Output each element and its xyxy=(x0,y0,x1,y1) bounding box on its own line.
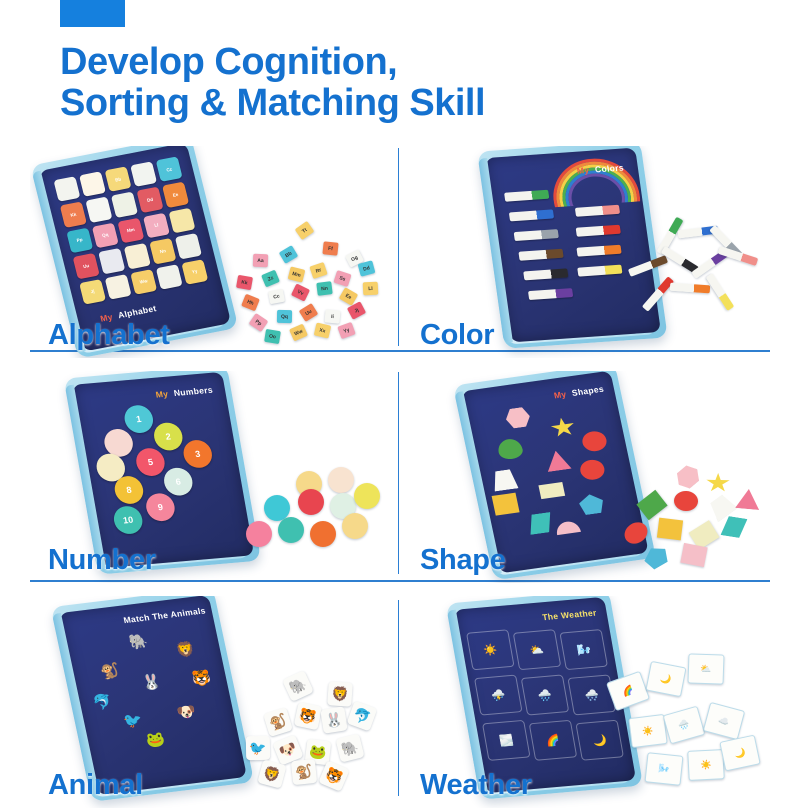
book-title-main: Colors xyxy=(594,163,624,175)
alphabet-loose-tile: Ss xyxy=(333,270,351,287)
alphabet-loose-tile: Uu xyxy=(299,303,319,322)
alphabet-loose-tile: Rr xyxy=(309,262,327,279)
alphabet-tile: Pp xyxy=(66,227,93,253)
crayon-brown xyxy=(518,249,563,261)
alphabet-tile: Ww xyxy=(130,269,157,295)
animal-frog-icon: 🐸 xyxy=(141,727,170,753)
weather-cloudy-slot: ⛅ xyxy=(513,629,562,670)
alphabet-loose-tile: Cc xyxy=(268,289,285,305)
loose-animal-piece: 🐯 xyxy=(318,760,349,791)
alphabet-loose-tile: Ww xyxy=(289,324,308,342)
animal-rabbit-icon: 🐰 xyxy=(137,669,166,695)
alphabet-loose-tile: Dd xyxy=(358,260,376,276)
crayon-yellow xyxy=(577,265,622,277)
number-disc xyxy=(310,521,336,547)
weather-loose-card: ☁️ xyxy=(703,702,746,740)
alphabet-loose-tile: Qq xyxy=(277,310,292,323)
alphabet-tile xyxy=(98,248,125,274)
number-book-title: My Numbers xyxy=(155,385,214,400)
loose-shape xyxy=(706,473,730,493)
crayon-gray xyxy=(514,229,559,241)
weather-thunder-slot: ⛈️ xyxy=(474,675,523,716)
shape-oval xyxy=(580,430,608,453)
alphabet-loose-tile: Hh xyxy=(241,294,260,312)
loose-crayon xyxy=(642,276,674,311)
loose-shape xyxy=(620,518,651,548)
alphabet-tile xyxy=(53,176,80,202)
loose-shape xyxy=(657,518,683,541)
loose-shape xyxy=(673,490,698,511)
number-circle: 3 xyxy=(181,439,214,469)
loose-animal-piece: 🦁 xyxy=(327,681,353,707)
alphabet-loose-tile: Ff xyxy=(322,241,338,255)
book-title-prefix: My xyxy=(155,389,169,400)
product-cell-number[interactable]: My Numbers 123586910 Number xyxy=(30,371,398,583)
alphabet-tile: Cc xyxy=(156,156,183,182)
book-title-prefix: My xyxy=(553,389,567,401)
number-circle: 10 xyxy=(112,505,145,535)
weather-loose-card: 🌧️ xyxy=(663,706,706,745)
alphabet-tile: Ll xyxy=(143,213,170,239)
alphabet-tile xyxy=(111,192,138,218)
alphabet-tile xyxy=(175,233,202,259)
loose-shape xyxy=(641,542,672,571)
alphabet-tile-label: Jj xyxy=(79,279,106,305)
infographic-page: Develop Cognition, Sorting & Matching Sk… xyxy=(0,0,800,800)
alphabet-tile: Ee xyxy=(162,182,189,208)
alphabet-loose-tile: Oo xyxy=(264,329,281,344)
shape-parallelogram xyxy=(526,512,554,535)
shape-loose-pieces xyxy=(624,467,764,575)
accent-bar xyxy=(60,0,125,27)
shape-hexagon xyxy=(504,406,532,429)
alphabet-tile xyxy=(130,161,157,187)
loose-animal-piece: 🐘 xyxy=(335,733,364,762)
alphabet-tile-label: Kk xyxy=(60,202,87,228)
number-circle: 5 xyxy=(134,447,167,477)
shape-star xyxy=(549,416,577,439)
crayon-green xyxy=(504,190,549,202)
cell-label-weather: Weather xyxy=(420,769,532,802)
alphabet-tile: Yy xyxy=(181,259,208,285)
weather-loose-card: 🌬️ xyxy=(645,752,684,786)
number-disc xyxy=(278,517,304,543)
loose-animal-piece: 🐰 xyxy=(320,706,347,733)
weather-book: The Weather ☀️⛅🌬️⛈️🌧️🌨️🌫️🌈🌙 xyxy=(454,597,636,793)
animal-monkey-icon: 🐒 xyxy=(96,658,125,684)
alphabet-loose-tile: Tt xyxy=(295,221,315,240)
weather-loose-card: ☀️ xyxy=(628,714,667,748)
loose-crayon xyxy=(670,283,710,294)
alphabet-loose-pieces: TtAaBbFfGgKkZzMmRrSsDdHhCcVvNnEeLlPpQqUu… xyxy=(235,224,385,344)
shape-heart xyxy=(496,438,524,461)
alphabet-tile xyxy=(85,197,112,223)
crayon-red xyxy=(576,225,621,237)
alphabet-tile-label: Pp xyxy=(66,227,93,253)
loose-shape xyxy=(672,462,703,493)
loose-animal-piece: 🦁 xyxy=(257,759,286,788)
alphabet-tile-label: Qq xyxy=(92,223,119,249)
number-circle: 1 xyxy=(122,404,155,434)
alphabet-tile-label: Cc xyxy=(156,156,183,182)
alphabet-tile: Dd xyxy=(137,187,164,213)
alphabet-tile xyxy=(105,274,132,300)
alphabet-tile-label: Mm xyxy=(117,218,144,244)
number-disc xyxy=(328,467,354,493)
cell-label-shape: Shape xyxy=(420,544,506,577)
alphabet-loose-tile: Bb xyxy=(279,245,299,264)
alphabet-tile xyxy=(124,243,151,269)
product-cell-shape[interactable]: My Shapes Shape xyxy=(402,371,770,583)
alphabet-tile xyxy=(156,264,183,290)
alphabet-loose-tile: Xx xyxy=(314,322,332,338)
weather-slots: ☀️⛅🌬️⛈️🌧️🌨️🌫️🌈🌙 xyxy=(466,621,626,780)
product-cell-color[interactable]: My Colors Color xyxy=(402,146,770,358)
number-loose-pieces xyxy=(242,467,387,572)
number-disc xyxy=(246,521,272,547)
weather-loose-card: ☀️ xyxy=(687,749,725,781)
weather-loose-card: 🌈 xyxy=(606,671,650,712)
loose-animal-piece: 🐒 xyxy=(263,707,293,737)
animal-dolphin-icon: 🐬 xyxy=(88,689,117,715)
number-disc xyxy=(354,483,380,509)
alphabet-loose-tile: Ll xyxy=(363,282,379,296)
number-circle: 2 xyxy=(152,422,185,452)
animal-slots: 🐘🦁🐒🐯🐰🐬🐦🐶🐸 xyxy=(72,621,236,782)
crayon-pink xyxy=(575,205,620,217)
animal-loose-pieces: 🐘🦁🐒🐯🐰🐬🐦🐶🐸🐘🦁🐒🐯 xyxy=(242,674,390,794)
page-title: Develop Cognition, Sorting & Matching Sk… xyxy=(60,42,760,123)
alphabet-tile-label: Ll xyxy=(143,213,170,239)
weather-loose-cards: 🌈🌙⛅☀️🌧️☁️🌬️☀️🌙 xyxy=(610,654,762,794)
animal-book: Match The Animals 🐘🦁🐒🐯🐰🐬🐦🐶🐸 xyxy=(59,596,247,795)
weather-snowy-slot: 🌨️ xyxy=(567,674,616,715)
alphabet-loose-tile: Ii xyxy=(324,309,340,323)
weather-rainbow-slot: 🌈 xyxy=(529,720,578,761)
alphabet-loose-tile: Aa xyxy=(253,254,268,268)
animal-tiger-icon: 🐯 xyxy=(187,665,216,691)
loose-crayon xyxy=(706,273,734,311)
shape-pentagon xyxy=(577,493,605,516)
cell-label-color: Color xyxy=(420,319,494,352)
alphabet-tile-label: Bb xyxy=(105,166,132,192)
loose-animal-piece: 🐬 xyxy=(347,701,378,732)
alphabet-loose-tile: Nn xyxy=(316,281,332,296)
alphabet-loose-tile: Mm xyxy=(288,266,306,282)
alphabet-tile-label: Ww xyxy=(130,269,157,295)
product-grid: BbCcKkDdEePpQqMmLlUuNnJjWwYy My Alphabet… xyxy=(30,146,770,786)
loose-animal-piece: 🐒 xyxy=(291,759,317,785)
number-circle: 6 xyxy=(162,467,195,497)
alphabet-tile-label: Nn xyxy=(149,238,176,264)
loose-shape xyxy=(721,515,748,539)
alphabet-loose-tile: Zz xyxy=(261,270,280,288)
loose-animal-piece: 🐯 xyxy=(294,702,322,730)
crayon-purple xyxy=(528,288,573,300)
alphabet-tile-label: Uu xyxy=(73,253,100,279)
book-title-main: Alphabet xyxy=(117,303,158,320)
loose-crayon xyxy=(628,255,668,277)
animal-elephant-icon: 🐘 xyxy=(124,628,153,654)
product-cell-animal[interactable]: Match The Animals 🐘🦁🐒🐯🐰🐬🐦🐶🐸 🐘🦁🐒🐯🐰🐬🐦🐶🐸🐘🦁🐒… xyxy=(30,596,398,808)
weather-loose-card: 🌙 xyxy=(719,735,760,772)
loose-shape xyxy=(636,490,667,521)
number-circle: 8 xyxy=(113,475,146,505)
loose-shape xyxy=(680,543,707,567)
animal-lion-icon: 🦁 xyxy=(171,637,200,663)
shape-triangle xyxy=(544,449,572,472)
alphabet-tile xyxy=(168,208,195,234)
shape-semicircle xyxy=(555,520,581,535)
crayon-black xyxy=(523,268,568,280)
book-title-main: Numbers xyxy=(173,385,214,398)
animal-dog-icon: 🐶 xyxy=(172,699,201,725)
loose-animal-piece: 🐦 xyxy=(246,736,270,760)
weather-fog-slot: 🌫️ xyxy=(482,720,531,761)
cell-label-number: Number xyxy=(48,544,156,577)
product-cell-weather[interactable]: The Weather ☀️⛅🌬️⛈️🌧️🌨️🌫️🌈🌙 🌈🌙⛅☀️🌧️☁️🌬️☀… xyxy=(402,596,770,808)
weather-rainy-slot: 🌧️ xyxy=(521,674,570,715)
alphabet-tile-label: Ee xyxy=(162,182,189,208)
alphabet-tile: Nn xyxy=(149,238,176,264)
alphabet-tile: Bb xyxy=(105,166,132,192)
color-loose-pieces xyxy=(620,228,760,338)
weather-windy-slot: 🌬️ xyxy=(559,629,608,670)
book-title-prefix: My xyxy=(576,165,590,176)
number-disc xyxy=(342,513,368,539)
number-circles: 123586910 xyxy=(86,398,240,547)
product-cell-alphabet[interactable]: BbCcKkDdEePpQqMmLlUuNnJjWwYy My Alphabet… xyxy=(30,146,398,358)
headline-line-2: Sorting & Matching Skill xyxy=(60,83,760,124)
alphabet-tile: Qq xyxy=(92,223,119,249)
alphabet-tile: Kk xyxy=(60,202,87,228)
headline-line-1: Develop Cognition, xyxy=(60,41,397,83)
alphabet-loose-tile: Kk xyxy=(236,275,253,290)
alphabet-tile: Mm xyxy=(117,218,144,244)
number-book: My Numbers 123586910 xyxy=(72,372,254,568)
number-circle: 9 xyxy=(144,492,177,522)
alphabet-tile-label: Dd xyxy=(137,187,164,213)
weather-sunny-slot: ☀️ xyxy=(466,629,515,670)
crayon-blue xyxy=(509,209,554,221)
weather-loose-card: 🌙 xyxy=(645,661,686,697)
shape-circle xyxy=(578,458,606,481)
number-disc xyxy=(298,489,324,515)
loose-animal-piece: 🐘 xyxy=(282,670,314,702)
alphabet-loose-tile: Yy xyxy=(337,322,356,339)
shape-square xyxy=(492,493,520,516)
shape-rectangle xyxy=(538,482,565,499)
alphabet-tile-label: Yy xyxy=(181,259,208,285)
alphabet-loose-tile: Vv xyxy=(291,283,310,301)
cell-label-animal: Animal xyxy=(48,769,143,802)
weather-loose-card: ⛅ xyxy=(687,653,724,684)
alphabet-tile: Jj xyxy=(79,279,106,305)
shape-trapezoid xyxy=(491,469,519,492)
loose-shape xyxy=(735,488,761,510)
alphabet-tile-grid: BbCcKkDdEePpQqMmLlUuNnJjWwYy xyxy=(53,156,208,304)
crayon-orange xyxy=(576,245,621,257)
cell-label-alphabet: Alphabet xyxy=(48,319,170,352)
weather-book-title: The Weather xyxy=(541,608,597,623)
alphabet-tile: Uu xyxy=(73,253,100,279)
alphabet-tile xyxy=(79,171,106,197)
shape-slots xyxy=(474,395,638,560)
